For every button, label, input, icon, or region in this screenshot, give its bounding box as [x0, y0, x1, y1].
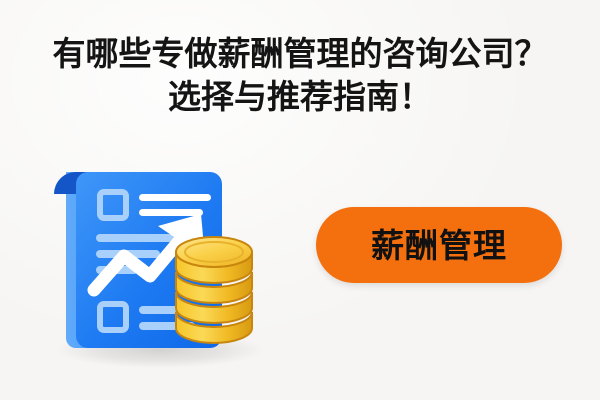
coin-stack — [176, 237, 252, 343]
document-chart-coins-illustration — [44, 142, 276, 374]
page-title-line-1: 有哪些专做薪酬管理的咨询公司？ — [0, 32, 600, 75]
document-text-line — [139, 194, 211, 201]
document-text-line — [96, 234, 174, 242]
page-title-line-2: 选择与推荐指南！ — [0, 75, 600, 118]
page-title: 有哪些专做薪酬管理的咨询公司？ 选择与推荐指南！ — [0, 32, 600, 118]
category-badge-label: 薪酬管理 — [371, 229, 507, 262]
poster-canvas: 有哪些专做薪酬管理的咨询公司？ 选择与推荐指南！ — [0, 0, 600, 400]
illustration-svg — [44, 142, 276, 374]
document-text-line — [139, 209, 203, 216]
category-badge[interactable]: 薪酬管理 — [316, 207, 562, 283]
